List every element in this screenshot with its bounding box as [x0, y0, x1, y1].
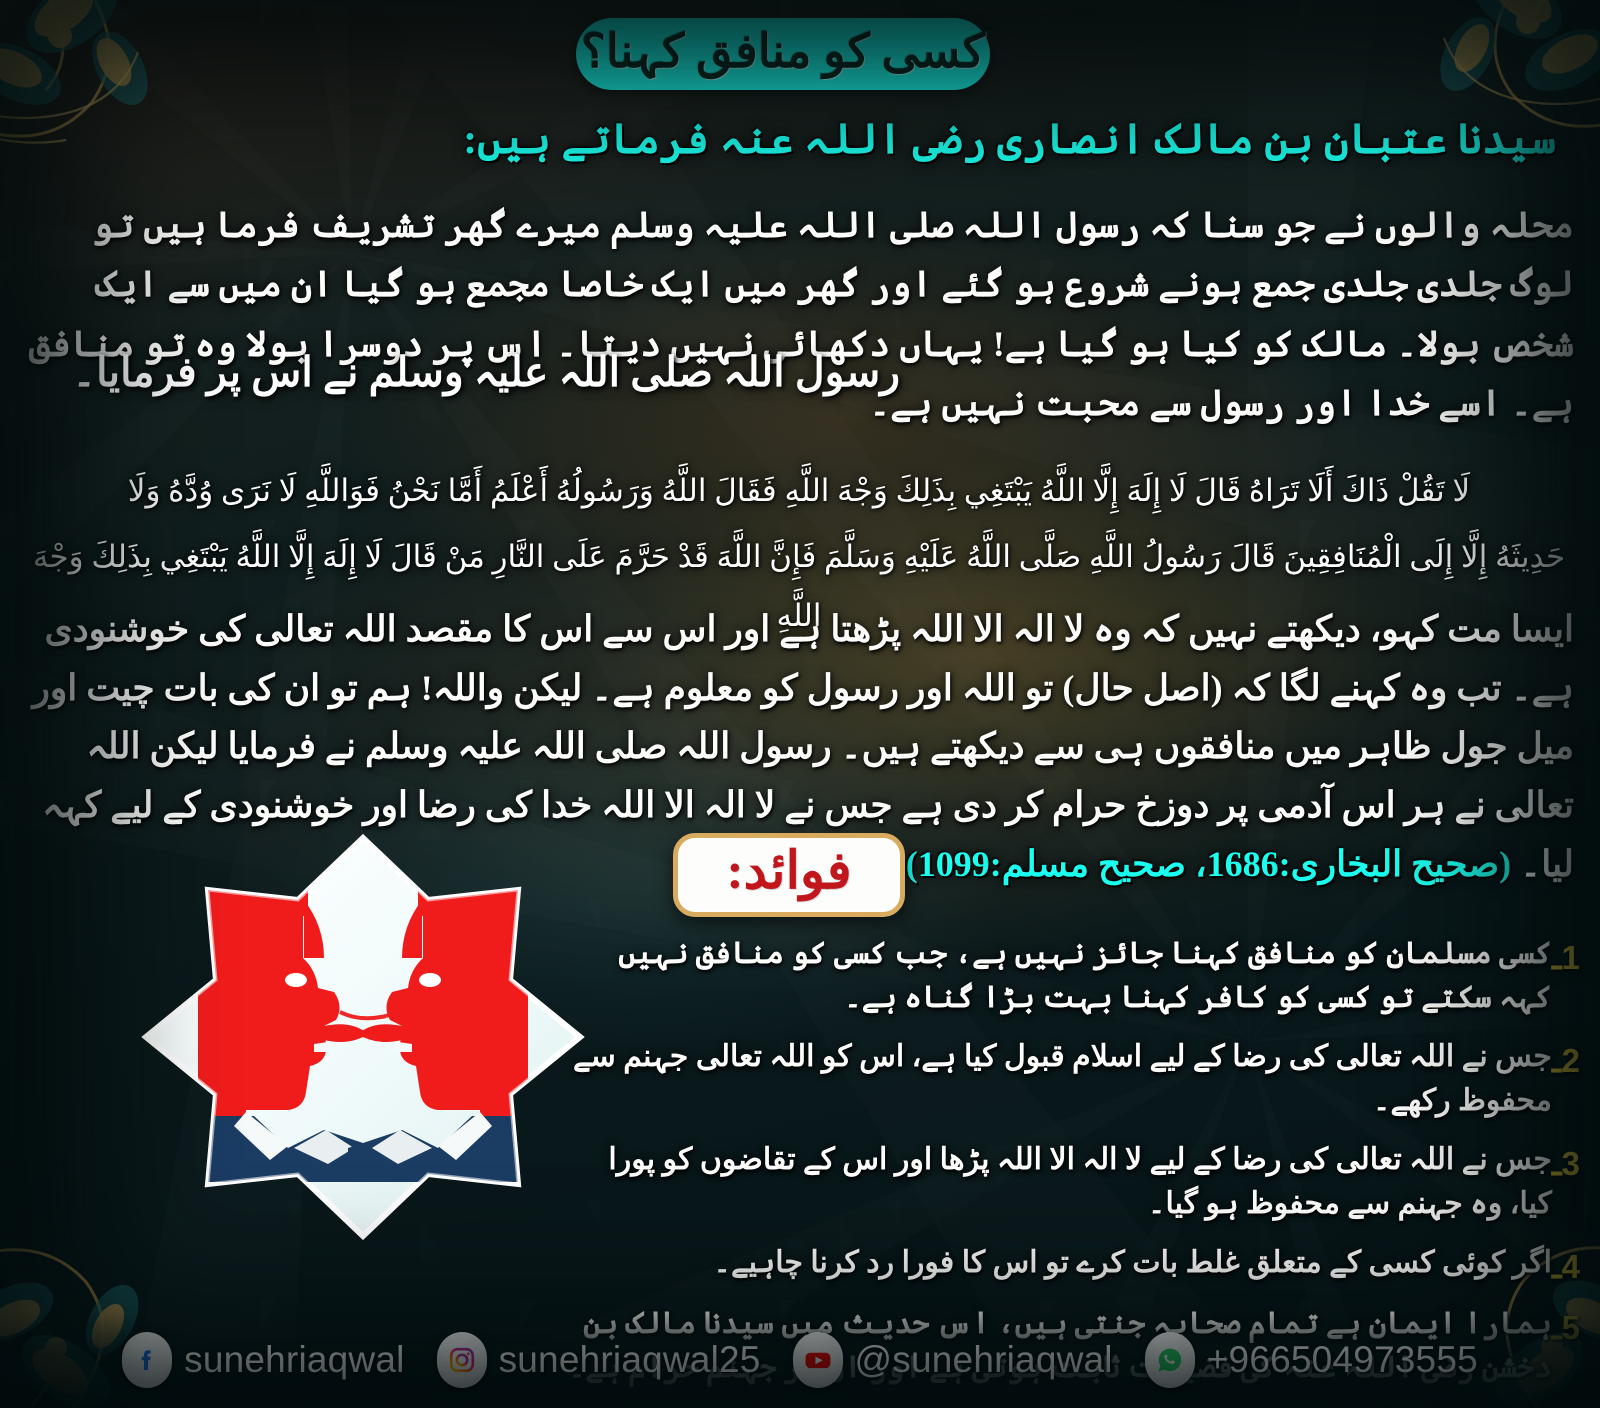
social-item-youtube[interactable]: @sunehriaqwal: [781, 1332, 1125, 1388]
social-item-instagram[interactable]: sunehriaqwal25: [425, 1332, 773, 1388]
benefits-heading-box: فوائد:: [673, 833, 905, 917]
social-footer-bar: sunehriaqwal: [0, 1312, 1600, 1408]
whatsapp-number[interactable]: +966504973555: [1207, 1339, 1478, 1381]
benefit-text: کسی مسلمان کو منافق کہنا جائز نہیں ہے، ج…: [560, 932, 1552, 1019]
instagram-handle[interactable]: sunehriaqwal25: [499, 1339, 761, 1381]
social-item-whatsapp[interactable]: +966504973555: [1133, 1332, 1490, 1388]
youtube-icon[interactable]: [793, 1332, 843, 1388]
list-item: 2ـ جس نے اللہ تعالی کی رضا کے لیے اسلام …: [560, 1035, 1580, 1122]
arabic-hadith-line-1: لَا تَقُلْ ذَاكَ أَلَا تَرَاهُ قَالَ لَا…: [16, 462, 1582, 521]
benefit-number: 4ـ: [1552, 1241, 1580, 1286]
benefit-text: اگر کوئی کسی کے متعلق غلط بات کرے تو اس …: [560, 1241, 1552, 1285]
benefit-number: 1ـ: [1552, 932, 1580, 977]
social-item-facebook[interactable]: sunehriaqwal: [110, 1332, 416, 1388]
facebook-icon[interactable]: [122, 1332, 172, 1388]
prophet-said-line: رسول اللہ صلی اللہ علیہ وسلم نے اس پر فر…: [20, 345, 900, 400]
benefit-number: 2ـ: [1552, 1035, 1580, 1080]
narrator-line: سیدنا عتبان بن مالک انصاری رضی اللہ عنہ …: [256, 112, 1556, 169]
list-item: 4ـ اگر کوئی کسی کے متعلق غلط بات کرے تو …: [560, 1241, 1580, 1286]
hadith-reference: (صحیح البخاری:1686، صحیح مسلم:1099): [906, 844, 1511, 884]
instagram-icon[interactable]: [437, 1332, 487, 1388]
page-title: کسی کو منافق کہنا؟: [581, 29, 985, 76]
whatsapp-icon[interactable]: [1145, 1332, 1195, 1388]
list-item: 3ـ جس نے اللہ تعالی کی رضا کے لیے لا الہ…: [560, 1138, 1580, 1225]
mandala-ornament-top-left: [0, 0, 262, 216]
benefit-text: جس نے اللہ تعالی کی رضا کے لیے لا الہ ال…: [560, 1138, 1552, 1225]
benefit-text: جس نے اللہ تعالی کی رضا کے لیے اسلام قبو…: [560, 1035, 1552, 1122]
poster-canvas: کسی کو منافق کہنا؟ سیدنا عتبان بن مالک ا…: [0, 0, 1600, 1408]
benefits-heading: فوائد:: [726, 846, 851, 898]
youtube-handle[interactable]: @sunehriaqwal: [855, 1339, 1113, 1381]
two-faces-whispering-badge: [128, 830, 598, 1300]
page-title-pill: کسی کو منافق کہنا؟: [576, 18, 990, 90]
list-item: 1ـ کسی مسلمان کو منافق کہنا جائز نہیں ہے…: [560, 932, 1580, 1019]
benefit-number: 3ـ: [1552, 1138, 1580, 1183]
facebook-handle[interactable]: sunehriaqwal: [184, 1339, 404, 1381]
